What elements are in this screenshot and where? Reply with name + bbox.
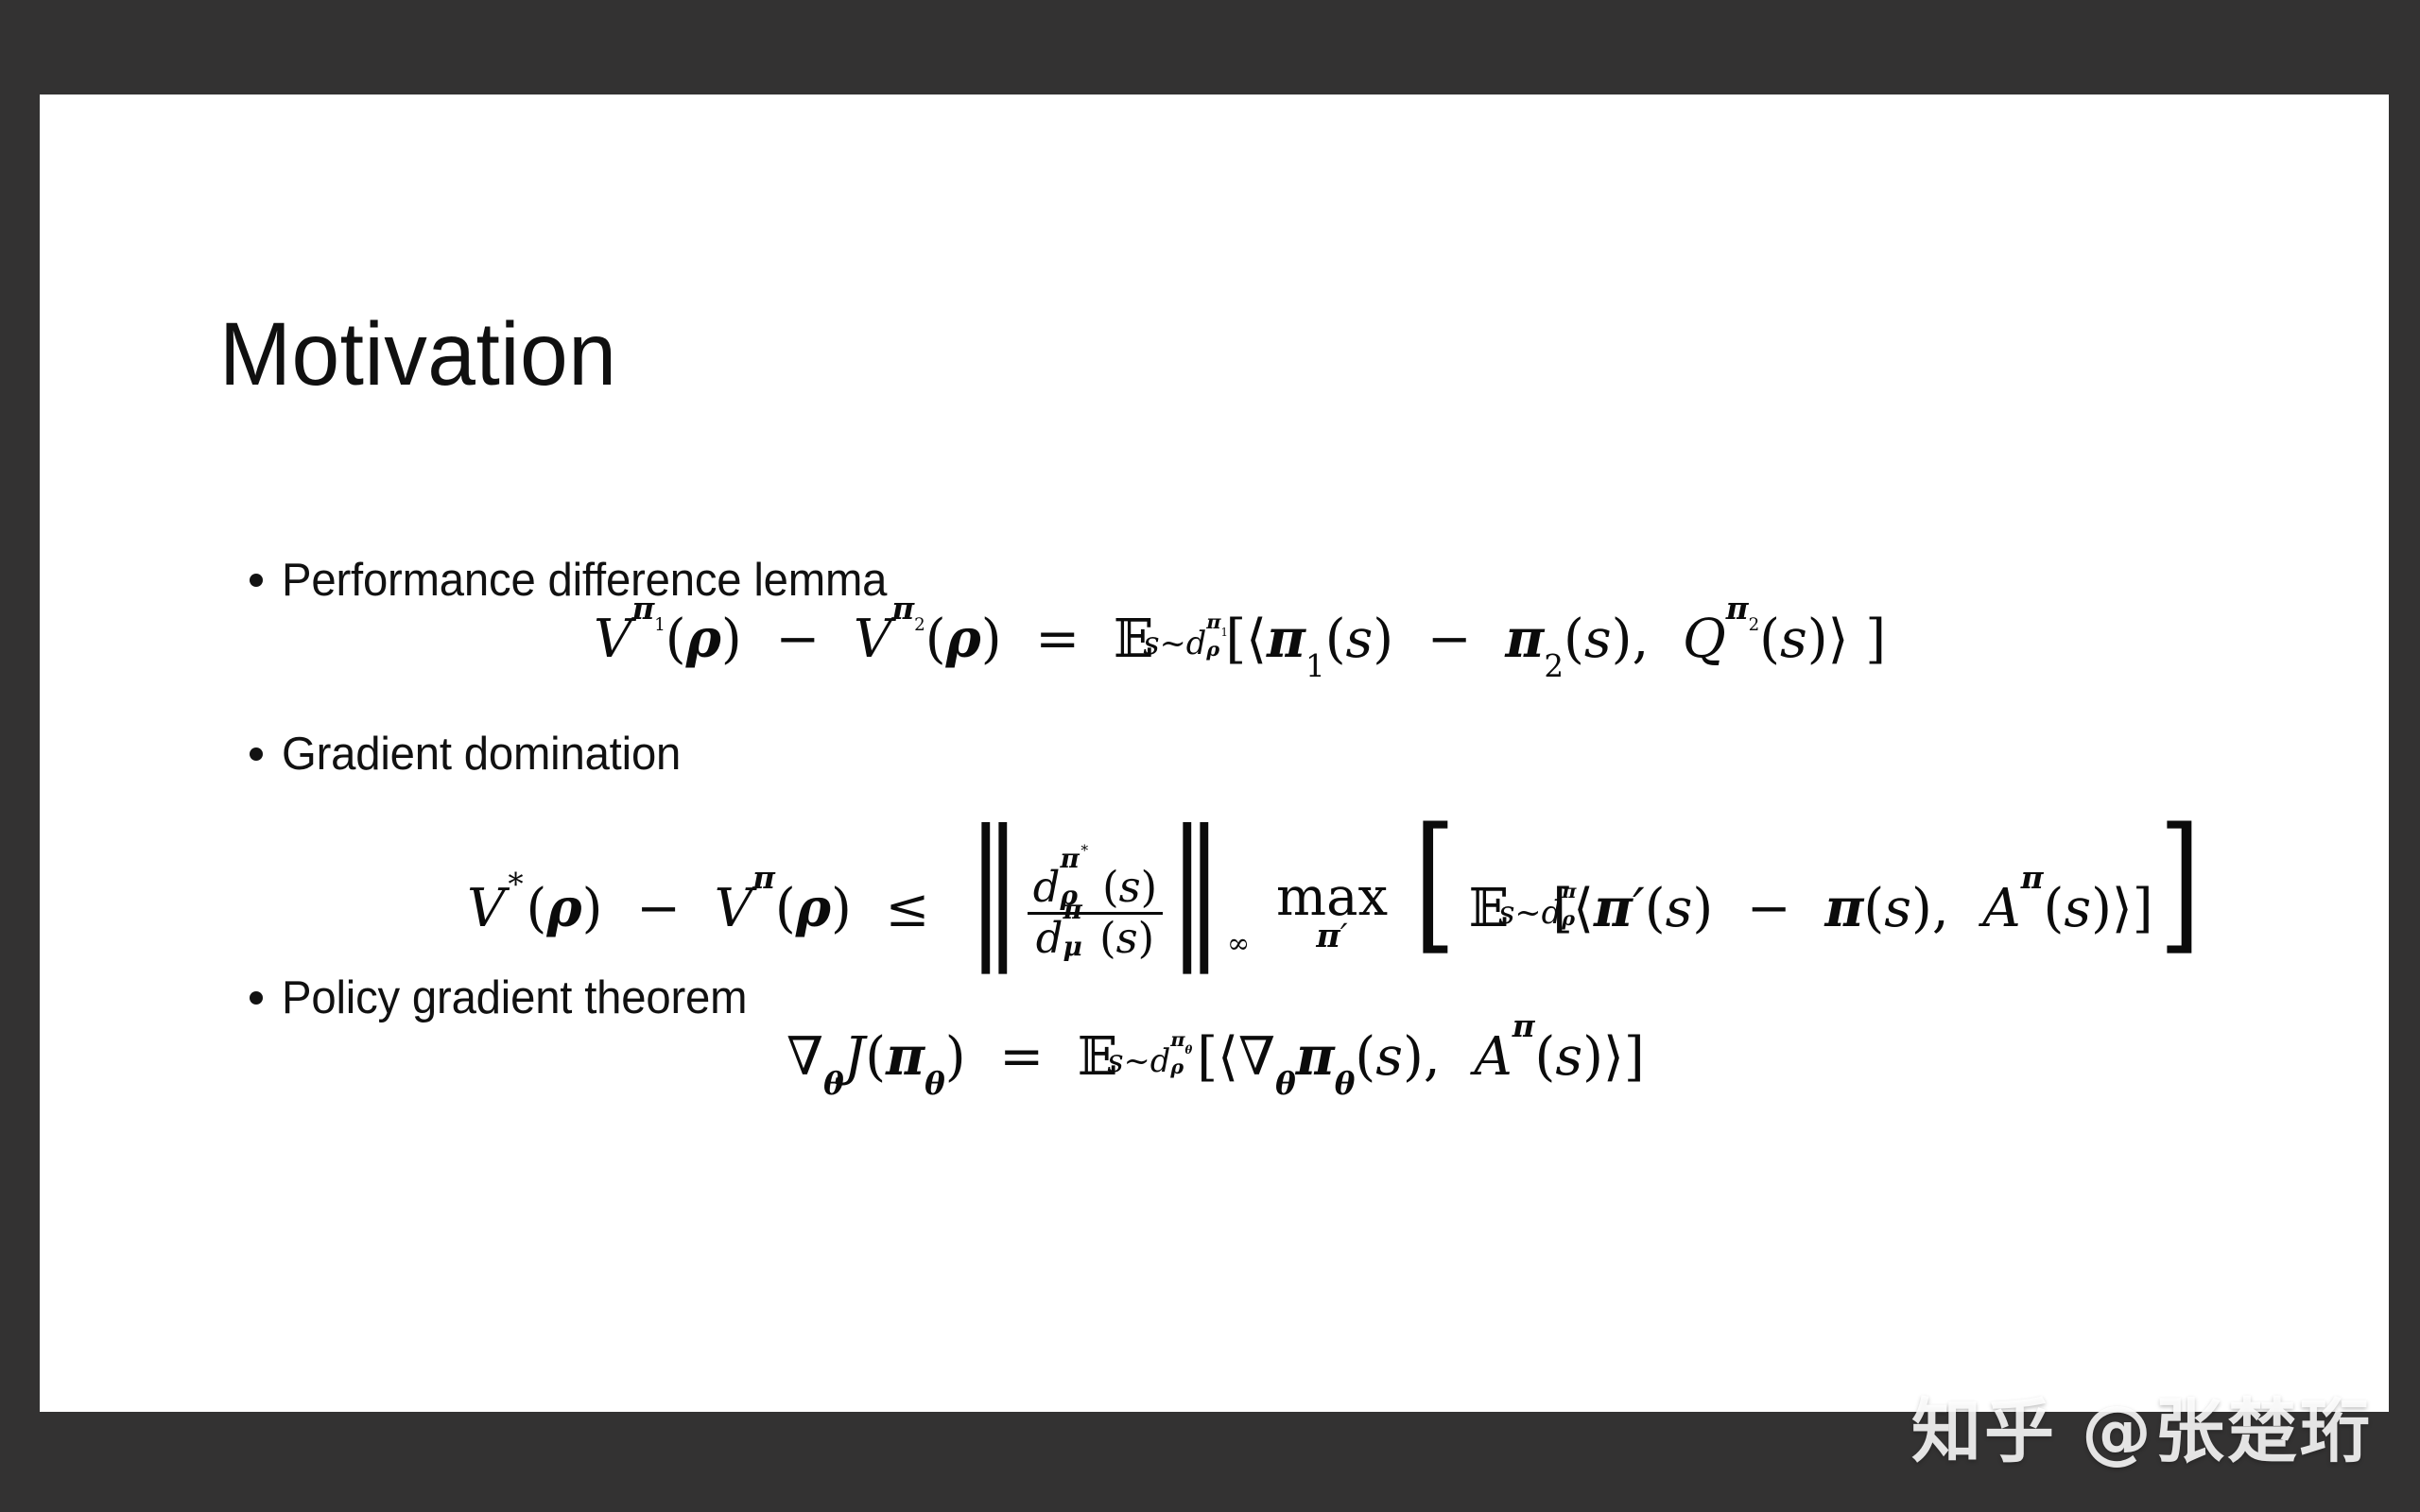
equation-performance-difference-lemma: Vπ1(ρ) − Vπ2(ρ) = 𝔼s~ddπ1ρ [⟨π1(s) − π2(…: [594, 612, 1886, 666]
equation-policy-gradient-theorem: ∇θJ(πθ) = 𝔼s~ddπθρ [⟨∇θπθ(s), Aπ(s)⟩]: [786, 1030, 1645, 1084]
bullet-label: Policy gradient theorem: [282, 971, 747, 1024]
bullet-dot-icon: [250, 747, 263, 761]
zhihu-watermark: 知乎@张楚珩: [1911, 1375, 2373, 1476]
bullet-label: Gradient domination: [282, 728, 681, 781]
bullet-item-gradient-domination: Gradient domination: [250, 728, 695, 781]
page-title: Motivation: [219, 310, 616, 400]
watermark-logo: 知乎: [1911, 1391, 2057, 1472]
bullet-dot-icon: [250, 991, 263, 1005]
bullet-label: Performance difference lemma: [282, 554, 887, 607]
screenshot-root: Motivation Performance difference lemma …: [0, 0, 2420, 1512]
presentation-slide: Motivation Performance difference lemma …: [40, 94, 2389, 1412]
bullet-item-policy-gradient-theorem: Policy gradient theorem: [250, 971, 764, 1024]
bullet-item-performance-difference-lemma: Performance difference lemma: [250, 554, 908, 607]
bullet-dot-icon: [250, 574, 263, 587]
watermark-handle: @张楚珩: [2082, 1391, 2373, 1472]
equation-gradient-domination: V∗(ρ) − Vπ(ρ) ≤ ‖ddπ∗ρ(s)ddπμ(s)‖∞ maxπ′…: [467, 813, 2205, 959]
